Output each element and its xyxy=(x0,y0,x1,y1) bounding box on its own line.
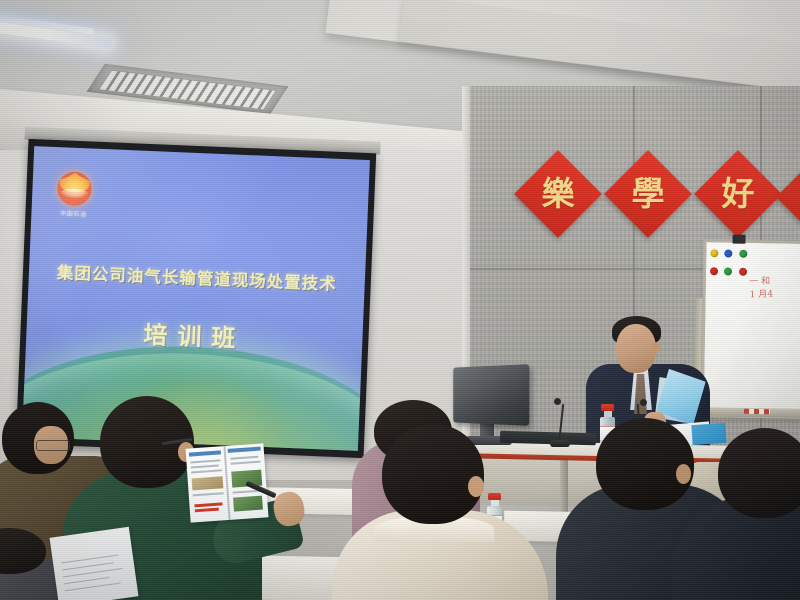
wall-banner-char: 學 xyxy=(617,163,679,225)
cnpc-sun-logo-icon xyxy=(57,171,92,206)
microphone-head xyxy=(640,399,647,406)
attendee-cream-jacket xyxy=(332,424,548,600)
paper-text-line xyxy=(64,577,110,585)
attendee-head xyxy=(382,424,484,524)
brochure-header-band xyxy=(189,450,221,456)
speaker-ear xyxy=(652,342,660,353)
handout-papers xyxy=(50,527,139,600)
brochure-text-line xyxy=(231,461,261,465)
magnet-yellow xyxy=(710,249,718,257)
brochure-text-line xyxy=(190,459,220,463)
paper-text-line xyxy=(65,582,121,591)
wall-banner-xue: 學 xyxy=(604,150,692,238)
brochure-photo xyxy=(192,476,224,490)
microphone-head xyxy=(554,398,561,405)
magnet-green xyxy=(739,250,747,258)
attendee-head xyxy=(718,428,800,518)
seminar-photo: 中国石油 集团公司油气长输管道现场处置技术 培训班 樂 學 好 勤 一 xyxy=(0,0,800,600)
cnpc-logo: 中国石油 xyxy=(51,171,97,219)
magnet-red xyxy=(739,268,747,276)
brochure-text-line xyxy=(193,492,224,496)
brochure-accent-bar xyxy=(195,508,219,513)
slide-title: 集团公司油气长输管道现场处置技术 xyxy=(29,258,366,296)
wall-banner-le: 樂 xyxy=(514,150,602,238)
whiteboard-writing-line: 1 月4 xyxy=(750,287,800,302)
attendee-dark-suit-right xyxy=(672,428,800,600)
wall-banner-char: 樂 xyxy=(527,163,589,225)
cnpc-logo-text: 中国石油 xyxy=(51,208,95,219)
wall-banner-char: 勤 xyxy=(789,166,800,228)
magnet-red xyxy=(710,267,718,275)
attendee-ear xyxy=(468,476,484,497)
brochure-photo xyxy=(233,496,263,512)
wall-banner-hao: 好 xyxy=(694,150,782,238)
magnet-blue xyxy=(725,249,733,257)
paper-text-line xyxy=(63,568,123,578)
brochure-fold xyxy=(223,446,230,520)
slide-subtitle: 培训班 xyxy=(26,310,363,359)
brochure-text-line xyxy=(230,456,258,460)
brochure-header-band xyxy=(228,447,261,453)
whiteboard-clip xyxy=(732,235,745,244)
wall-banner-char: 好 xyxy=(707,163,769,225)
bottle-cap xyxy=(601,404,614,411)
brochure xyxy=(186,443,269,522)
whiteboard-writing: 一 和 1 月4 xyxy=(749,274,800,310)
brochure-text-line xyxy=(191,469,222,473)
brochure-text-line xyxy=(191,465,219,469)
magnet-green xyxy=(724,267,732,275)
speaker-head xyxy=(616,324,656,373)
whiteboard-magnets xyxy=(709,245,750,282)
whiteboard-marker xyxy=(744,409,770,414)
brochure-accent-bar xyxy=(194,502,222,507)
